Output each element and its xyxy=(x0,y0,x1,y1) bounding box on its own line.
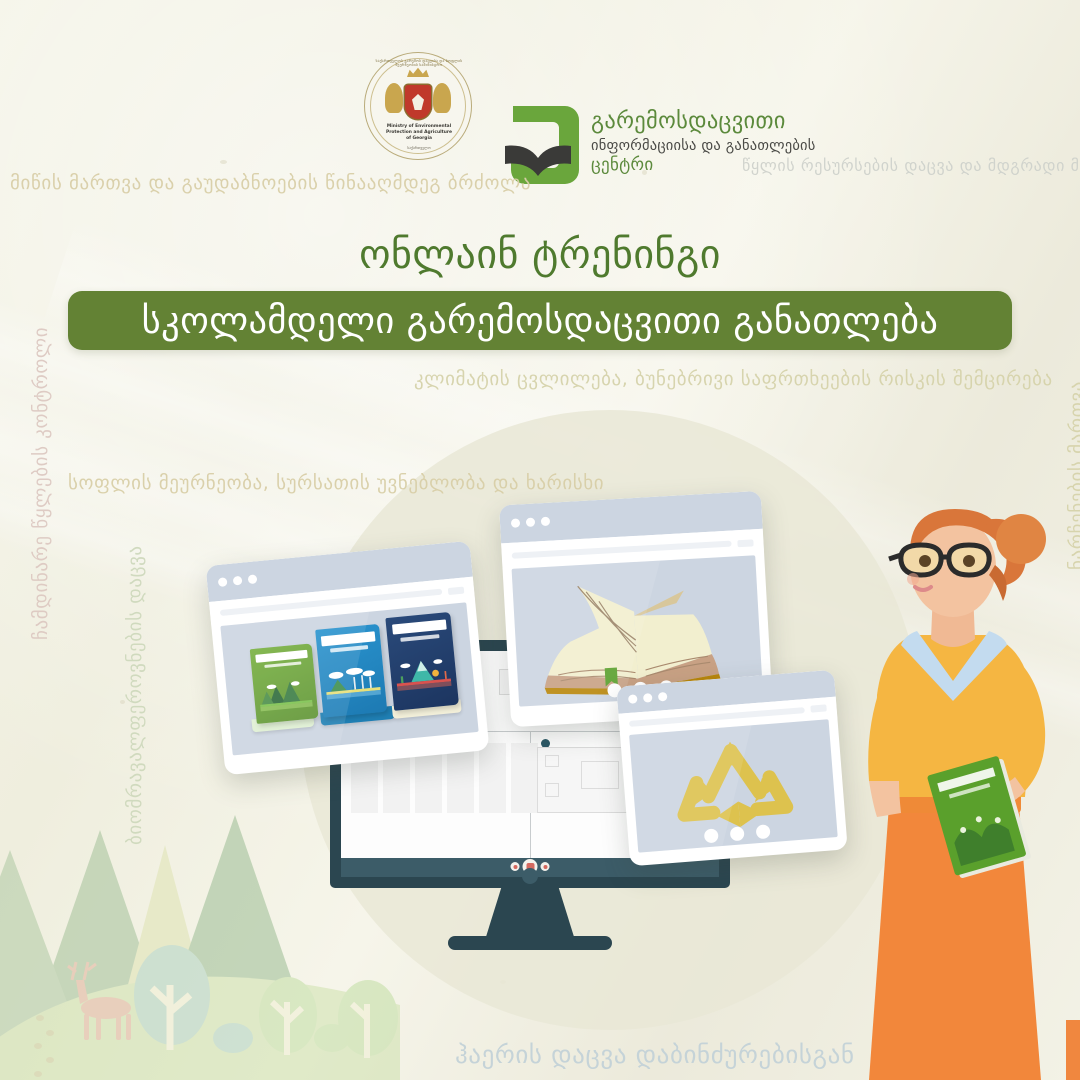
browser-card-recycle[interactable] xyxy=(616,670,847,867)
book-subtitle-block xyxy=(330,645,369,652)
forearm-left xyxy=(869,781,901,817)
carousel-dot[interactable] xyxy=(730,827,745,842)
monitor-stand-neck xyxy=(485,888,575,940)
window-dot-icon xyxy=(526,518,535,527)
browser-card-books[interactable] xyxy=(206,541,490,775)
seal-en-line3: of Georgia xyxy=(365,136,473,142)
carousel-dot[interactable] xyxy=(756,825,771,840)
book-pages xyxy=(252,714,315,733)
window-dot-icon xyxy=(628,694,638,704)
hair-bun xyxy=(996,514,1046,564)
book-subtitle-block xyxy=(264,662,301,669)
browser-viewport xyxy=(629,719,838,853)
book-cover-blue xyxy=(315,624,387,718)
window-dot-icon xyxy=(233,576,243,586)
book-cover-navy xyxy=(386,612,459,711)
seal-caption-en: Ministry of Environmental Protection and… xyxy=(365,124,473,142)
book-cover-art-forest xyxy=(256,674,314,715)
browser-viewport xyxy=(220,602,478,755)
book-cover-art-mountain xyxy=(393,649,454,699)
book-subtitle-block xyxy=(401,634,440,641)
page-title: სკოლამდელი გარემოსდაცვითი განათლება xyxy=(142,299,939,342)
carousel-dot[interactable] xyxy=(704,829,719,844)
bookmark-icon xyxy=(605,668,618,687)
title-band: სკოლამდელი გარემოსდაცვითი განათლება xyxy=(68,291,1012,350)
paper-fleck xyxy=(220,160,227,164)
monitor-stand-base xyxy=(448,936,612,950)
watermark-climate-change: კლიმატის ცვლილება, ბუნებრივი საფრთხეების… xyxy=(414,368,1053,390)
window-dot-icon xyxy=(218,578,228,588)
title-eyebrow: ონლაინ ტრენინგი xyxy=(0,232,1080,278)
header: საქართველოს გარემოს დაცვისა და სოფლის მე… xyxy=(0,46,1080,156)
wireframe-thumb xyxy=(545,783,559,797)
seal-caption-ka-small: საქართველო xyxy=(365,146,473,150)
blush xyxy=(907,573,919,585)
url-button[interactable] xyxy=(810,705,826,713)
shield-icon xyxy=(405,85,431,119)
url-button[interactable] xyxy=(448,586,465,595)
book-cover-art-water xyxy=(322,659,382,707)
bush-icon xyxy=(213,1023,253,1053)
orange-accent-strip xyxy=(1066,1020,1080,1080)
woman-with-glasses-holding-book xyxy=(855,505,1080,1080)
book-cover-row xyxy=(220,602,478,755)
watermark-air-protection: ჰაერის დაცვა დაბინძურებისგან xyxy=(455,1040,855,1069)
wireframe-image xyxy=(581,761,619,789)
lion-right-icon xyxy=(433,83,451,113)
watermark-wastewater-control: ჩამდინარე წყლების კონტროლი xyxy=(30,327,52,640)
mute-button[interactable] xyxy=(511,862,520,871)
wireframe-thumb xyxy=(545,755,559,767)
watermark-water-resources: წყლის რესურსების დაცვა და მდგრადი მართვა xyxy=(742,156,1080,175)
eiec-logo-line2: ინფორმაციისა და განათლების xyxy=(591,137,816,155)
eye-right xyxy=(963,555,975,567)
lion-left-icon xyxy=(385,83,403,113)
url-button[interactable] xyxy=(737,539,753,547)
window-dot-icon xyxy=(511,519,520,528)
book-cover-green xyxy=(250,643,319,724)
book-title-block xyxy=(392,620,447,635)
window-dot-icon xyxy=(643,693,653,703)
watermark-land-management: მიწის მართვა და გაუდაბნოების წინააღმდეგ … xyxy=(10,172,531,194)
window-dot-icon xyxy=(248,575,258,585)
poster-canvas: საქართველოს გარემოს დაცვისა და სოფლის მე… xyxy=(0,0,1080,1080)
window-dot-icon xyxy=(658,692,668,702)
window-dot-icon xyxy=(541,517,550,526)
eye-left xyxy=(919,555,931,567)
video-button[interactable] xyxy=(541,862,550,871)
url-field[interactable] xyxy=(512,541,732,559)
eiec-logo-line1: გარემოსდაცვითი xyxy=(591,110,816,133)
monitor-power-button[interactable] xyxy=(522,868,538,884)
eiec-logo: გარემოსდაცვითი ინფორმაციისა და განათლები… xyxy=(505,104,805,200)
book-title-block xyxy=(255,650,307,663)
watermark-agriculture-food: სოფლის მეურნეობა, სურსათის უვნებლობა და … xyxy=(68,472,604,494)
bush-icon xyxy=(314,1024,350,1052)
georgia-coat-of-arms-seal: საქართველოს გარემოს დაცვისა და სოფლის მე… xyxy=(364,52,472,160)
book-title-block xyxy=(321,631,376,646)
